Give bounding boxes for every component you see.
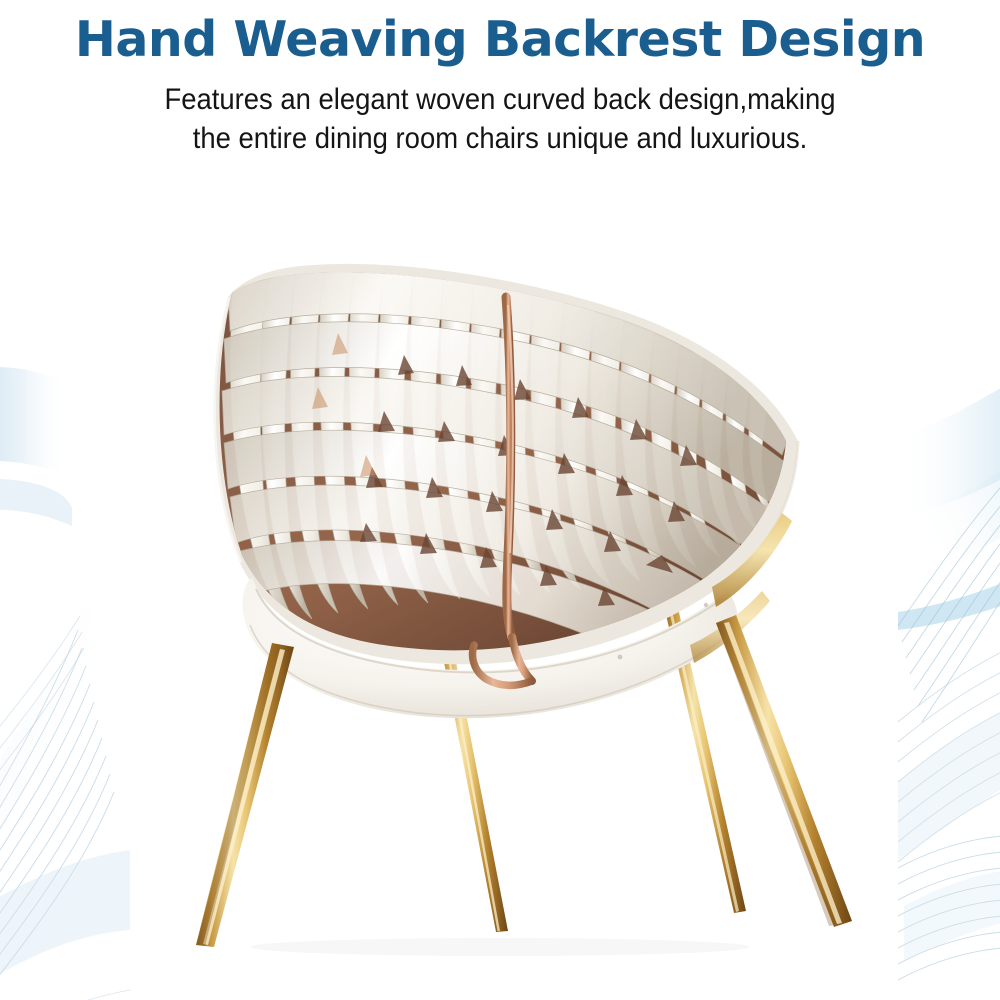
chair-leg-front-left [196,643,294,947]
product-feature-banner: Hand Weaving Backrest Design Features an… [0,0,1000,1000]
page-title: Hand Weaving Backrest Design [0,0,1000,66]
page-subtitle: Features an elegant woven curved back de… [35,66,965,158]
subtitle-line-2: the entire dining room chairs unique and… [35,119,965,158]
header: Hand Weaving Backrest Design Features an… [0,0,1000,158]
subtitle-line-1: Features an elegant woven curved back de… [35,80,965,119]
product-image [0,205,1000,975]
